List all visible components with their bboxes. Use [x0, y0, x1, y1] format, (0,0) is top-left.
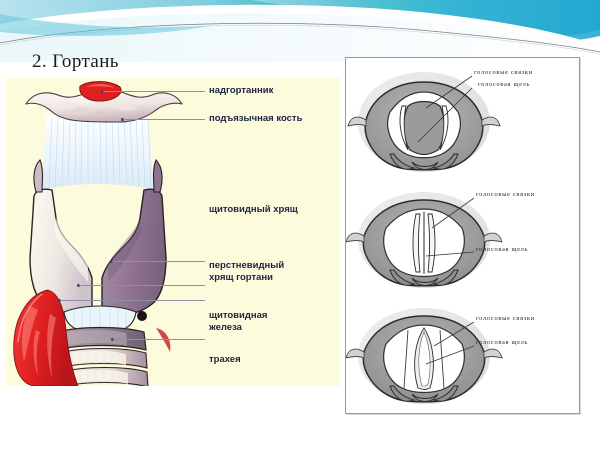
anatomy-panel: надгортанник подъязычная кость щитовидны… — [6, 78, 340, 386]
anatomy-label-group: надгортанник подъязычная кость щитовидны… — [6, 78, 340, 386]
slide-canvas: 2. Гортань — [0, 0, 600, 450]
callout-line-thyroid-cartilage — [79, 285, 205, 286]
label-glottis-3: голосовая щель — [476, 339, 528, 346]
label-cricoid-cartilage: перстневидный хрящ гортани — [209, 260, 284, 283]
label-thyroid-gland: щитовидная железа — [209, 310, 267, 333]
label-epiglottis: надгортанник — [209, 85, 273, 97]
laryngoscopy-panel: голосовые связки голосовая щель — [345, 57, 580, 414]
callout-line-cricoid-cartilage — [112, 261, 205, 262]
laryngoscopy-view-breathing: голосовые связки голосовая щель — [346, 62, 579, 180]
page-title: 2. Гортань — [32, 51, 119, 73]
label-vocal-cords-1: голосовые связки — [474, 69, 533, 76]
label-vocal-cords-3: голосовые связки — [476, 315, 535, 322]
label-thyroid-cartilage: щитовидный хрящ — [209, 204, 298, 216]
label-hyoid-bone: подъязычная кость — [209, 113, 302, 125]
callout-line-hyoid-bone — [123, 119, 205, 120]
label-vocal-cords-2: голосовые связки — [476, 191, 535, 198]
callout-line-trachea — [113, 339, 205, 340]
laryngoscopy-view-whisper: голосовые связки голосовая щель — [346, 296, 579, 414]
callout-line-thyroid-gland — [60, 300, 205, 301]
laryngoscopy-view-phonation: голосовые связки голосовая щель — [346, 180, 579, 298]
callout-line-epiglottis — [103, 91, 205, 92]
label-glottis-1: голосовая щель — [478, 81, 530, 88]
label-trachea: трахея — [209, 354, 241, 366]
label-glottis-2: голосовая щель — [476, 246, 528, 253]
